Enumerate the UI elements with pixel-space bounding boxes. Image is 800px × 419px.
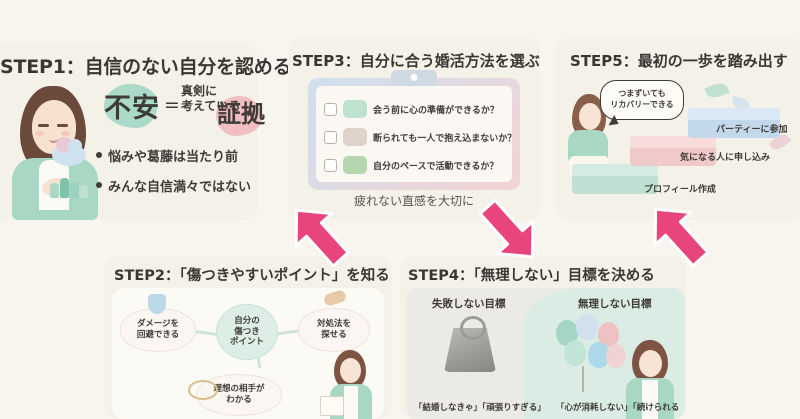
list-item[interactable]: 断られても一人で抱え込まないか？ bbox=[324, 124, 516, 150]
step1-body: 不安 = 真剣に 考えている 証拠 悩みや葛藤は当たり前 みんな自信満々ではない bbox=[0, 78, 272, 218]
node-label-line2: 探せる bbox=[317, 330, 351, 341]
speech-bubble-line2: リカバリーできる bbox=[610, 100, 673, 111]
node-label-line1: ダメージを bbox=[137, 319, 179, 330]
node-label-line1: 対処法を bbox=[317, 319, 351, 330]
step4-column1-heading: 失敗しない目標 bbox=[432, 296, 506, 311]
arrow-step4-to-step5 bbox=[644, 196, 710, 270]
step4-comparison: 失敗しない目標 「結婚しなきゃ」「頑張りすぎる」 無理しない目標 「心が消耗しな… bbox=[406, 288, 685, 419]
node-label-line2: 回避できる bbox=[137, 330, 179, 341]
frog-heart-icon bbox=[343, 100, 367, 118]
woman-writing-notebook-illustration bbox=[320, 350, 376, 419]
step4-column2-caption: 「心が消耗しない」「続けられる bbox=[556, 401, 679, 413]
list-item: みんな自信満々ではない bbox=[96, 170, 251, 200]
step5-body: つまずいても リカバリーできる プロフィール作成 気になる人に申し込み パーティ… bbox=[556, 76, 800, 206]
checklist-label: 会う前に心の準備ができるか？ bbox=[373, 103, 499, 116]
center-node-line2: 傷つき bbox=[230, 327, 264, 338]
speech-bubble: つまずいても リカバリーできる bbox=[600, 80, 684, 120]
bandage-icon bbox=[323, 289, 348, 307]
leaf-decoration-icon bbox=[704, 80, 729, 100]
step5-title: STEP5：最初の一歩を踏み出す bbox=[570, 50, 788, 71]
step4-column2-heading: 無理しない目標 bbox=[578, 296, 652, 311]
step1-title: STEP1：自信のない自分を認める bbox=[0, 52, 291, 79]
heavy-weight-ring-icon bbox=[460, 316, 486, 340]
list-item[interactable]: 自分のペースで活動できるか？ bbox=[324, 152, 498, 178]
list-item: 悩みや葛藤は当たり前 bbox=[96, 140, 251, 170]
checklist-label: 自分のペースで活動できるか？ bbox=[373, 159, 498, 172]
checkbox[interactable] bbox=[324, 131, 337, 144]
checkbox[interactable] bbox=[324, 159, 337, 172]
node-label-line2: わかる bbox=[213, 395, 264, 406]
clipboard-clip-icon bbox=[391, 70, 437, 86]
stair-label-2: 気になる人に申し込み bbox=[680, 150, 770, 163]
couple-icon bbox=[343, 128, 367, 146]
clipboard-sheet: 会う前に心の準備ができるか？ 断られても一人で抱え込まないか？ 自分のペースで活… bbox=[316, 86, 512, 182]
clipboard-checklist-illustration: 会う前に心の準備ができるか？ 断られても一人で抱え込まないか？ 自分のペースで活… bbox=[308, 78, 520, 190]
step3-title: STEP3：自分に合う婚活方法を選ぶ bbox=[292, 50, 540, 71]
bullet-label: みんな自信満々ではない bbox=[108, 176, 251, 195]
mindmap-node-right: 対処法を 探せる bbox=[298, 308, 370, 352]
rings-icon bbox=[188, 380, 218, 400]
equation-left-term: 不安 bbox=[104, 86, 160, 125]
turtle-icon bbox=[343, 156, 367, 174]
list-item[interactable]: 会う前に心の準備ができるか？ bbox=[324, 96, 499, 122]
center-node-line1: 自分の bbox=[230, 316, 264, 327]
stair-label-3: パーティーに参加 bbox=[716, 122, 787, 135]
people-group-icon bbox=[50, 170, 88, 198]
infographic-canvas: STEP1：自信のない自分を認める 不安 = 真剣に 考えている 証拠 悩みや葛… bbox=[0, 0, 800, 419]
shield-icon bbox=[148, 294, 166, 314]
mindmap-center-node: 自分の 傷つき ポイント bbox=[216, 304, 278, 360]
node-label-line1: 理想の相手が bbox=[213, 384, 264, 395]
step2-mindmap: ダメージを 回避できる 自分の 傷つき ポイント 対処法を 探せる 理想の相手が… bbox=[112, 288, 384, 419]
bullet-label: 悩みや葛藤は当たり前 bbox=[108, 146, 238, 165]
checkbox[interactable] bbox=[324, 103, 337, 116]
step1-bullet-list: 悩みや葛藤は当たり前 みんな自信満々ではない bbox=[96, 140, 251, 200]
arrow-step3-to-step4 bbox=[478, 196, 544, 270]
stair-label-1: プロフィール作成 bbox=[644, 182, 716, 195]
equation-equals-sign: = bbox=[164, 94, 180, 116]
arrow-step2-to-step3 bbox=[286, 198, 350, 270]
center-node-line3: ポイント bbox=[230, 337, 264, 348]
mindmap-node-left: ダメージを 回避できる bbox=[120, 308, 196, 352]
checklist-label: 断られても一人で抱え込まないか？ bbox=[373, 131, 516, 144]
step4-column1-caption: 「結婚しなきゃ」「頑張りすぎる」 bbox=[414, 401, 546, 413]
cloud-rain-icon bbox=[52, 144, 86, 166]
equation-right-term: 証拠 bbox=[217, 94, 265, 129]
speech-bubble-line1: つまずいても bbox=[610, 89, 673, 100]
